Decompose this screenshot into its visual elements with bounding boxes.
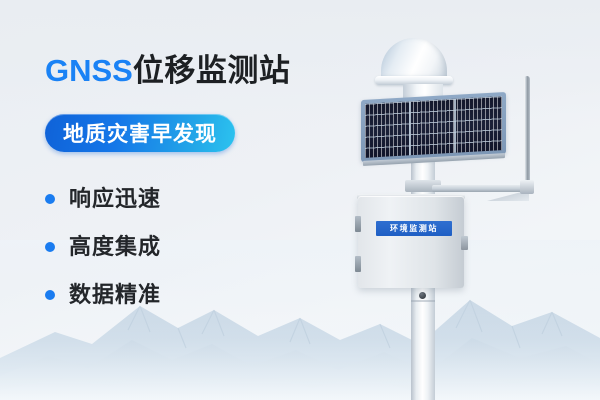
bullet-dot-icon [45,290,55,300]
cabinet-hinge-lower [355,256,361,272]
feature-list: 响应迅速 高度集成 数据精准 [45,183,161,327]
whip-antenna-base [520,180,534,194]
list-item: 高度集成 [45,231,161,263]
cabinet-hinge-upper [355,216,361,232]
pole-seam [411,300,435,302]
solar-panel [361,92,506,162]
bullet-dot-icon [45,242,55,252]
whip-antenna [524,76,530,188]
cabinet-label: 环境监测站 [376,221,452,236]
feature-label: 高度集成 [69,236,161,258]
solar-cells [365,96,502,158]
list-item: 响应迅速 [45,183,161,215]
list-item: 数据精准 [45,279,161,311]
title-rest: 位移监测站 [133,53,291,88]
equipment-cabinet [358,196,464,288]
feature-label: 数据精准 [69,284,161,306]
pole-bolt [419,292,426,299]
bullet-dot-icon [45,194,55,204]
page-title: GNSS位移监测站 [45,55,290,86]
mounting-arm [432,185,532,192]
feature-label: 响应迅速 [69,188,161,210]
cabinet-latch [461,236,468,250]
tagline-badge: 地质灾害早发现 [45,114,235,152]
gnss-dome-antenna [381,38,447,80]
hero-banner: 环境监测站 GNSS位移监测站 地质灾害早发现 响应迅速 高度集成 数据精准 [0,0,600,400]
title-highlight: GNSS [45,53,133,88]
